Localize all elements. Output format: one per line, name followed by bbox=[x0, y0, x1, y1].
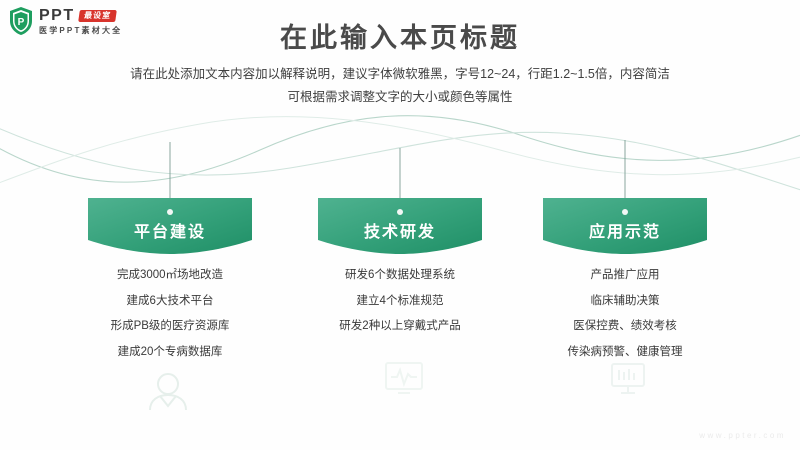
slide-canvas: P PPT 最设室 医学PPT素材大全 在此输入本页标题 请在此处添加文本内容加… bbox=[0, 0, 800, 450]
list-item: 建成6大技术平台 bbox=[82, 296, 258, 308]
list-item: 研发6个数据处理系统 bbox=[312, 270, 488, 282]
list-item: 形成PB级的医疗资源库 bbox=[82, 321, 258, 333]
banner-label-2: 技术研发 bbox=[312, 218, 488, 242]
list-item: 传染病预警、健康管理 bbox=[537, 347, 713, 359]
wave-path-faint bbox=[0, 117, 800, 190]
banner-dot-3 bbox=[622, 209, 628, 215]
column-3-lines: 产品推广应用 临床辅助决策 医保控费、绩效考核 传染病预警、健康管理 bbox=[537, 270, 713, 372]
banner-dot-1 bbox=[167, 209, 173, 215]
column-2-lines: 研发6个数据处理系统 建立4个标准规范 研发2种以上穿戴式产品 bbox=[312, 270, 488, 347]
content-column-3: 应用示范 产品推广应用 临床辅助决策 医保控费、绩效考核 传染病预警、健康管理 bbox=[537, 196, 713, 256]
content-column-2: 技术研发 研发6个数据处理系统 建立4个标准规范 研发2种以上穿戴式产品 bbox=[312, 196, 488, 256]
content-column-1: 平台建设 完成3000㎡场地改造 建成6大技术平台 形成PB级的医疗资源库 建成… bbox=[82, 196, 258, 256]
display-screen-icon bbox=[608, 360, 648, 403]
column-1-lines: 完成3000㎡场地改造 建成6大技术平台 形成PB级的医疗资源库 建成20个专病… bbox=[82, 270, 258, 372]
banner-platform[interactable]: 平台建设 bbox=[82, 196, 258, 256]
wave-path-lower bbox=[0, 120, 800, 196]
list-item: 医保控费、绩效考核 bbox=[537, 321, 713, 333]
subtitle-line-2: 可根据需求调整文字的大小或颜色等属性 bbox=[100, 86, 700, 109]
list-item: 临床辅助决策 bbox=[537, 296, 713, 308]
footer-url: www.ppter.com bbox=[699, 431, 786, 440]
banner-label-3: 应用示范 bbox=[537, 218, 713, 242]
ecg-monitor-icon bbox=[382, 358, 426, 403]
list-item: 研发2种以上穿戴式产品 bbox=[312, 321, 488, 333]
doctor-icon bbox=[142, 372, 194, 417]
banner-application[interactable]: 应用示范 bbox=[537, 196, 713, 256]
list-item: 建立4个标准规范 bbox=[312, 296, 488, 308]
wave-path-upper bbox=[0, 116, 800, 182]
banner-technology[interactable]: 技术研发 bbox=[312, 196, 488, 256]
subtitle-line-1: 请在此处添加文本内容加以解释说明，建议字体微软雅黑，字号12~24，行距1.2~… bbox=[100, 63, 700, 86]
page-title: 在此输入本页标题 bbox=[0, 16, 800, 55]
list-item: 产品推广应用 bbox=[537, 270, 713, 282]
page-subtitle: 请在此处添加文本内容加以解释说明，建议字体微软雅黑，字号12~24，行距1.2~… bbox=[100, 63, 700, 109]
banner-label-1: 平台建设 bbox=[82, 218, 258, 242]
banner-dot-2 bbox=[397, 209, 403, 215]
list-item: 建成20个专病数据库 bbox=[82, 347, 258, 359]
list-item: 完成3000㎡场地改造 bbox=[82, 270, 258, 282]
